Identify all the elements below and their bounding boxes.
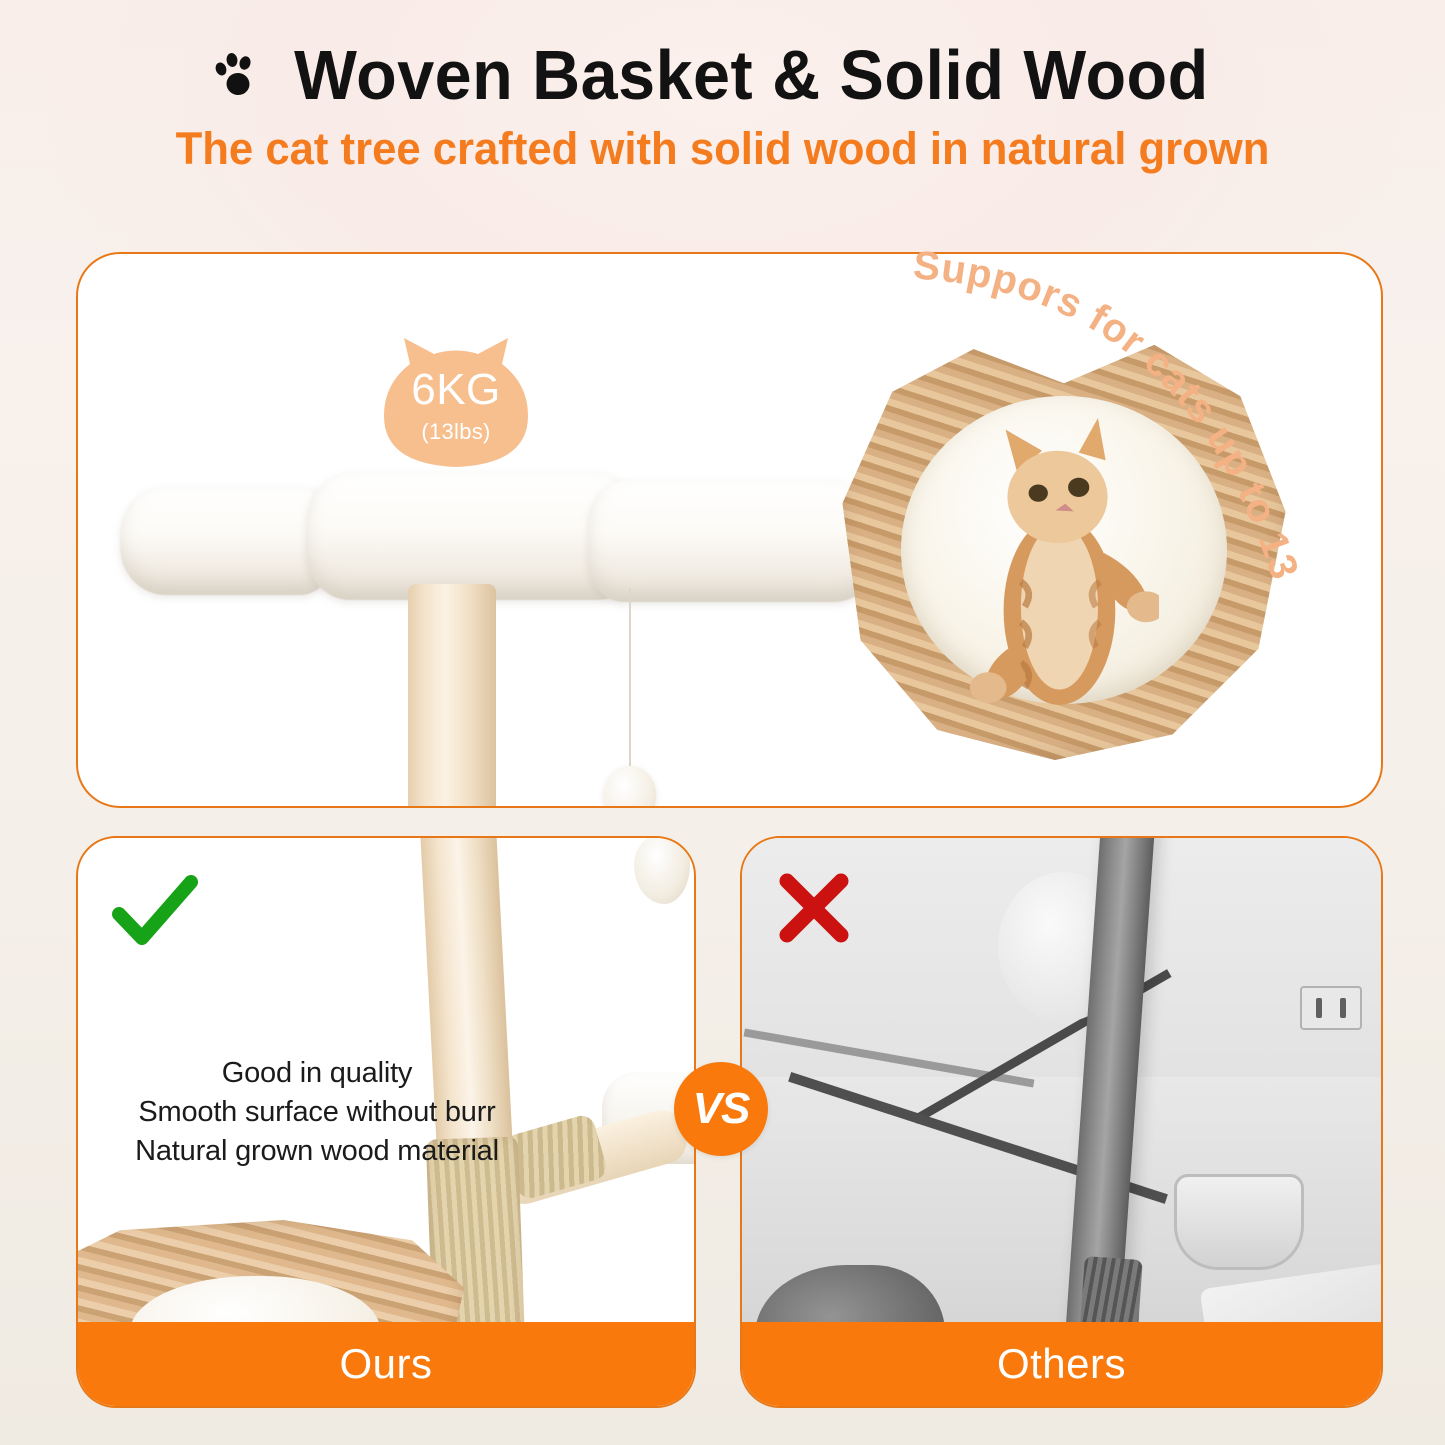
paw-print-icon [212, 52, 258, 104]
pet-bowl [1174, 1174, 1304, 1270]
kitten-illustration [960, 418, 1159, 726]
ours-pom-pom-toy [634, 836, 690, 904]
plush-platform-right [588, 480, 878, 602]
others-label: Others [997, 1340, 1126, 1388]
vs-badge: VS [674, 1062, 768, 1156]
plush-platform-left [120, 487, 330, 595]
plush-platform-center [306, 472, 636, 600]
feature-panel-top [76, 252, 1383, 808]
green-check-icon [112, 874, 198, 952]
red-x-icon [776, 870, 852, 946]
title-row: Woven Basket & Solid Wood [0, 38, 1445, 114]
ours-feature-3: Natural grown wood material [92, 1132, 542, 1171]
comparison-panel-ours: Good in quality Smooth surface without b… [76, 836, 696, 1408]
wooden-post [408, 584, 496, 808]
comparison-panel-others: Others [740, 836, 1383, 1408]
page-subtitle: The cat tree crafted with solid wood in … [22, 124, 1424, 174]
others-label-bar: Others [742, 1322, 1381, 1406]
ours-feature-2: Smooth surface without burr [92, 1093, 542, 1132]
wall-outlet-icon [1300, 986, 1362, 1030]
toy-string [629, 588, 631, 773]
page-header: Woven Basket & Solid Wood The cat tree c… [0, 38, 1445, 173]
ours-label: Ours [339, 1340, 432, 1388]
pom-pom-toy [604, 766, 656, 808]
ours-label-bar: Ours [78, 1322, 694, 1406]
vs-label: VS [693, 1084, 750, 1134]
weight-badge-cat-head-icon [382, 334, 530, 470]
ours-feature-list: Good in quality Smooth surface without b… [92, 1054, 542, 1171]
ours-feature-1: Good in quality [92, 1054, 542, 1093]
page-title: Woven Basket & Solid Wood [294, 38, 1209, 114]
woven-basket-with-kitten [838, 332, 1290, 760]
